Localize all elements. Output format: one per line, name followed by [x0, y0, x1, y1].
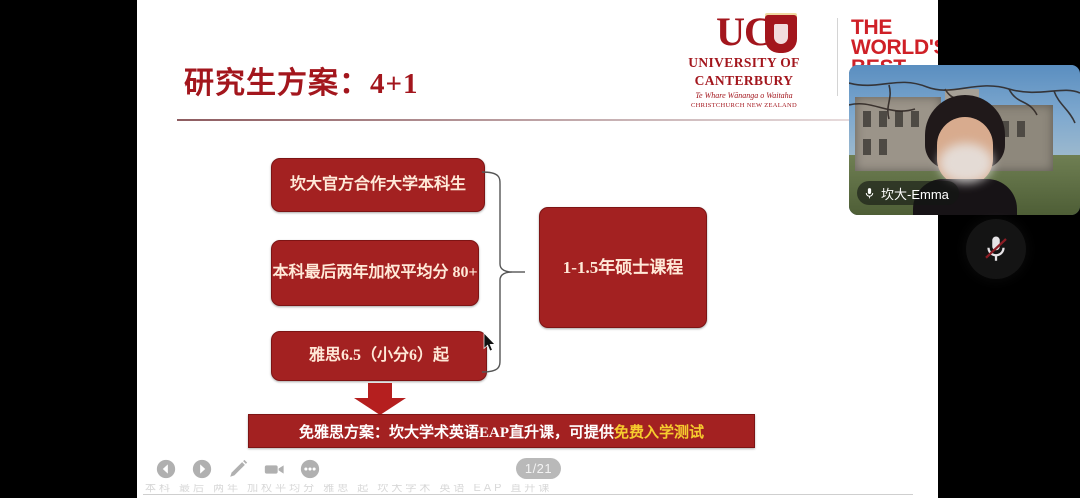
pencil-icon[interactable]	[227, 458, 249, 480]
clipped-next-slide-strip: 本科 最后 两年 加权平均分 雅思 起 坎大学术 英语 EAP 直升课	[137, 484, 938, 498]
flow-box-partner-university: 坎大官方合作大学本科生	[271, 158, 485, 212]
title-divider	[177, 119, 857, 121]
logo-divider	[837, 18, 838, 96]
presentation-slide[interactable]: 研究生方案：4+1 UC UNIVERSITY OF CANTERBURY Te…	[137, 0, 938, 491]
uc-name-line1: UNIVERSITY OF	[665, 55, 823, 70]
tagline-line-1: THE	[851, 18, 938, 38]
mute-toggle-button[interactable]	[966, 219, 1026, 279]
video-camera-icon[interactable]	[263, 458, 285, 480]
page-title: 研究生方案：4+1	[184, 58, 419, 102]
next-slide-icon[interactable]	[191, 458, 213, 480]
clipped-rule	[143, 494, 913, 495]
uc-crest-icon	[765, 15, 797, 53]
microphone-muted-icon	[981, 232, 1011, 266]
flow-box-gpa-requirement: 本科最后两年加权平均分 80+	[271, 240, 479, 306]
uc-city-line: CHRISTCHURCH NEW ZEALAND	[665, 101, 823, 110]
page-title-cn: 研究生方案：	[184, 67, 370, 100]
participant-name: 坎大-Emma	[881, 184, 949, 203]
uc-name-line2: CANTERBURY	[665, 73, 823, 88]
participant-name-badge: 坎大-Emma	[857, 181, 959, 205]
uc-maori-name: Te Whare Wānanga o Waitaha	[665, 91, 823, 101]
previous-slide-icon[interactable]	[155, 458, 177, 480]
eap-banner: 免雅思方案：坎大学术英语EAP直升课，可提供免费入学测试	[248, 414, 755, 448]
page-indicator: 1/21	[516, 458, 561, 479]
meeting-screen: 研究生方案：4+1 UC UNIVERSITY OF CANTERBURY Te…	[0, 0, 1080, 498]
down-arrow-icon	[352, 383, 408, 415]
flow-box-ielts-requirement: 雅思6.5（小分6）起	[271, 331, 487, 381]
mouse-cursor	[483, 333, 496, 352]
uc-logo: UC UNIVERSITY OF CANTERBURY Te Whare Wān…	[665, 12, 823, 110]
page-title-number: 4+1	[370, 68, 419, 100]
slide-toolbar: 1/21	[137, 455, 938, 485]
more-options-icon[interactable]	[299, 458, 321, 480]
uc-monogram: UC	[665, 12, 823, 52]
tagline-line-2: WORLD'S	[851, 38, 938, 58]
avatar-motion-blur	[939, 143, 993, 183]
microphone-icon	[863, 186, 876, 201]
eap-banner-highlight: 免费入学测试	[614, 421, 704, 442]
participant-video-tile[interactable]: 坎大-Emma	[849, 65, 1080, 215]
eap-banner-text: 免雅思方案：坎大学术英语EAP直升课，可提供	[299, 421, 614, 442]
flow-box-masters-program: 1-1.5年硕士课程	[539, 207, 707, 328]
